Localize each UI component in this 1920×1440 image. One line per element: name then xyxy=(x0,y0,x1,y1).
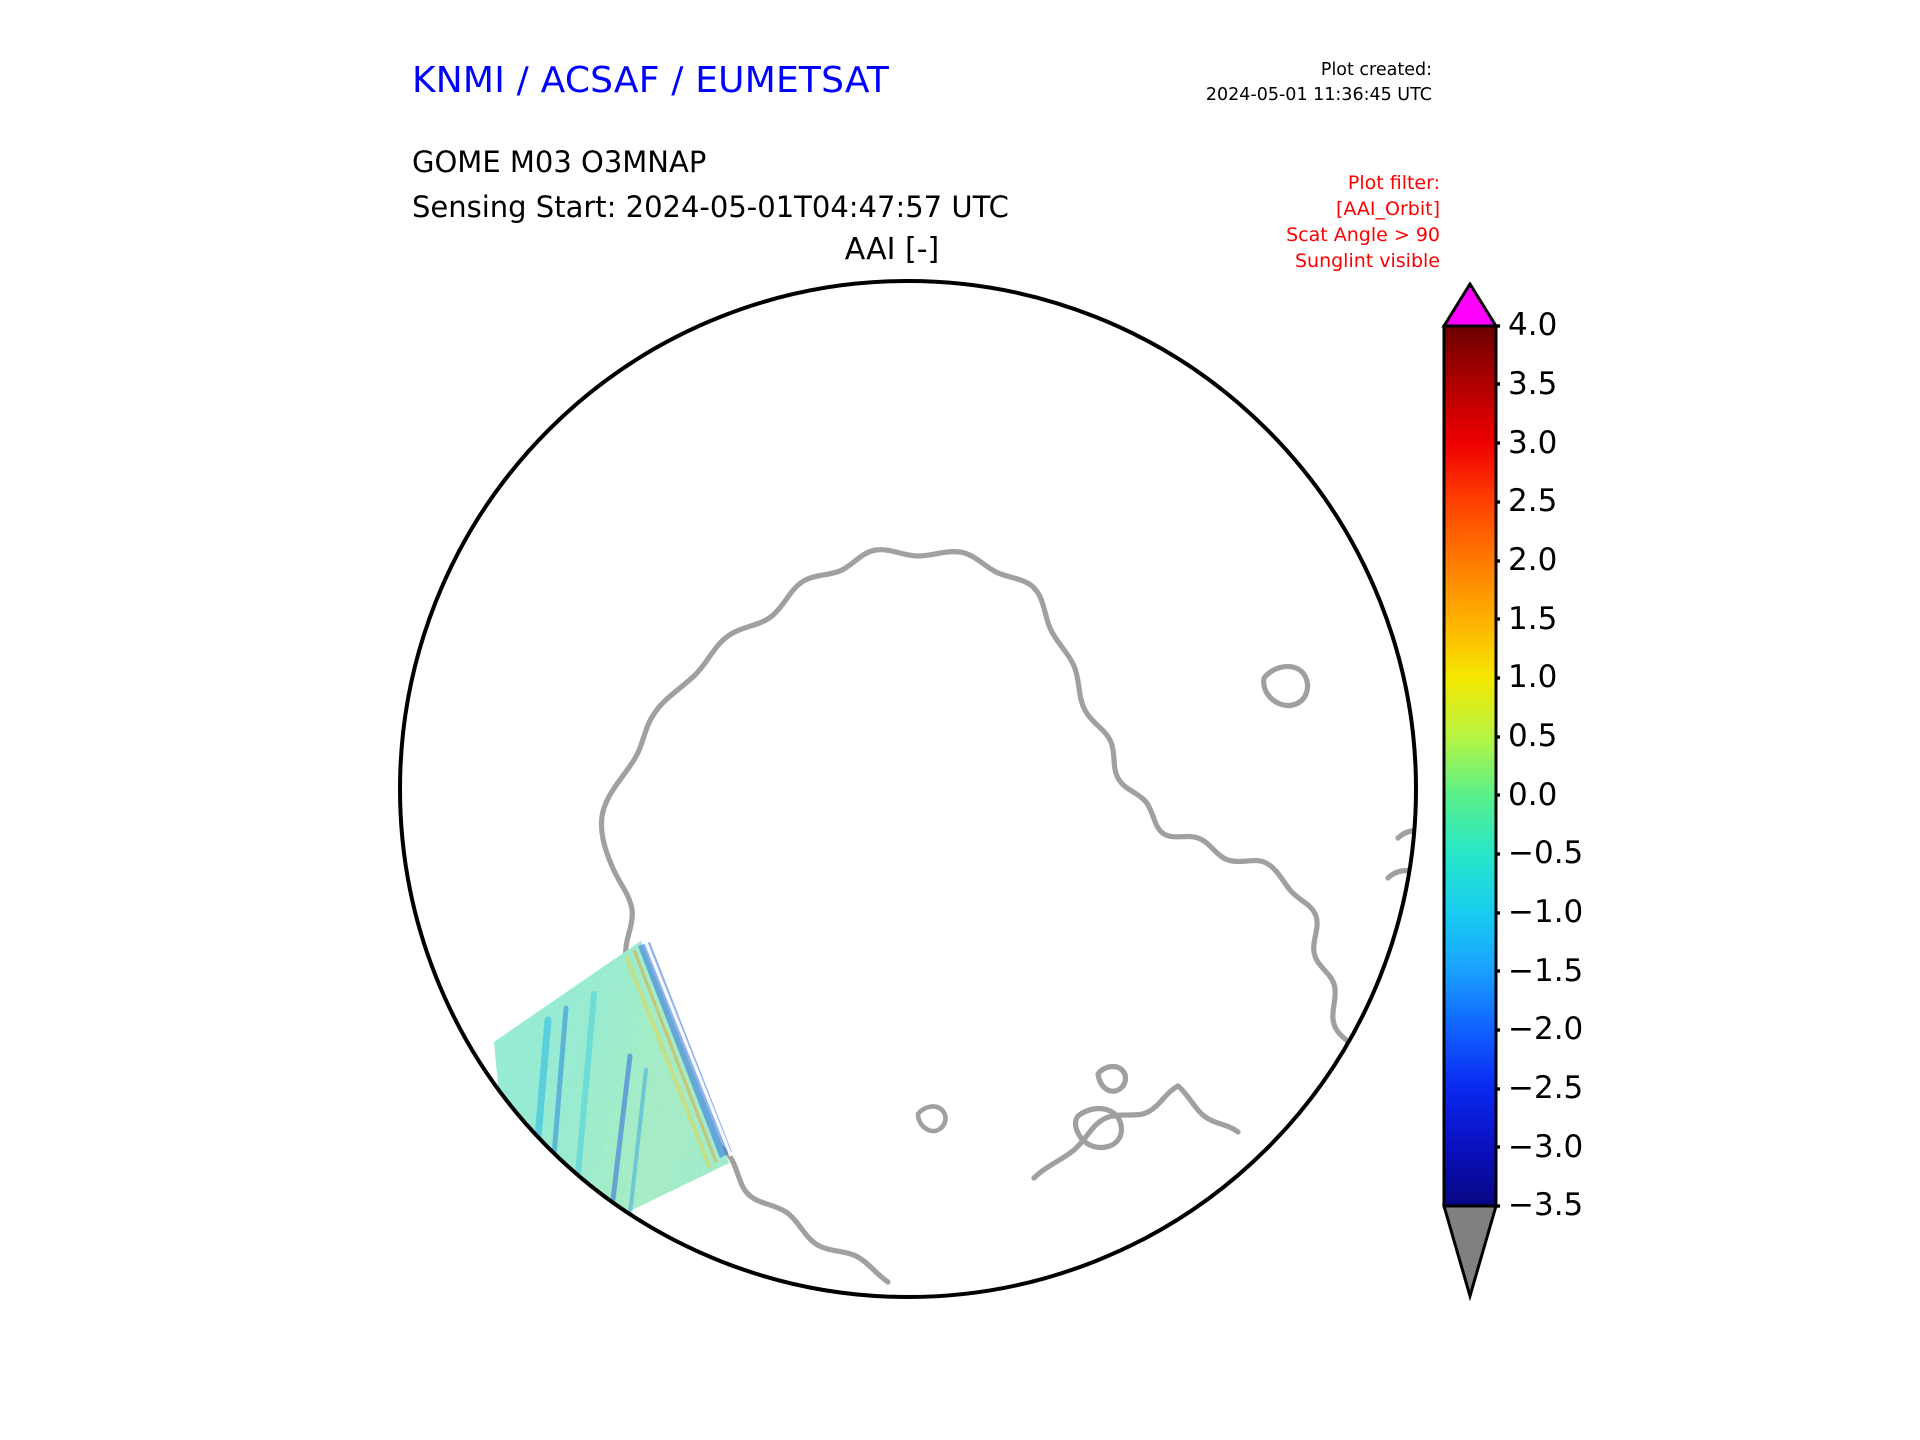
colorbar-tick-label: 3.0 xyxy=(1508,428,1557,459)
colorbar-tick-label: 0.0 xyxy=(1508,780,1557,811)
colorbar-tick-labels: 4.0 3.5 3.0 2.5 2.0 1.5 1.0 0.5 0.0 −0.5… xyxy=(1508,282,1638,1304)
colorbar-gradient xyxy=(1444,326,1496,1206)
sensing-start: Sensing Start: 2024-05-01T04:47:57 UTC xyxy=(412,185,1009,230)
colorbar-tick-label: −1.0 xyxy=(1508,897,1583,928)
plot-created-block: Plot created: 2024-05-01 11:36:45 UTC xyxy=(1060,58,1432,108)
colorbar-tick-label: 2.0 xyxy=(1508,545,1557,576)
colorbar-tick-label: −0.5 xyxy=(1508,838,1583,869)
plot-filter-title: Plot filter: xyxy=(1140,170,1440,196)
colorbar-over-arrow xyxy=(1444,284,1496,326)
variable-title: AAI [-] xyxy=(612,232,1172,267)
plot-filter-name: [AAI_Orbit] xyxy=(1140,196,1440,222)
polar-map xyxy=(398,278,1418,1300)
colorbar-tick-label: 4.0 xyxy=(1508,310,1557,341)
colorbar-tick-label: −3.0 xyxy=(1508,1132,1583,1163)
colorbar-tick-label: −3.5 xyxy=(1508,1190,1583,1221)
colorbar xyxy=(1440,282,1500,1304)
colorbar-tick-label: 1.0 xyxy=(1508,662,1557,693)
colorbar-under-arrow xyxy=(1444,1206,1496,1296)
colorbar-tick-label: −2.0 xyxy=(1508,1014,1583,1045)
dataset-info-block: GOME M03 O3MNAP Sensing Start: 2024-05-0… xyxy=(412,140,1009,230)
organisation-title: KNMI / ACSAF / EUMETSAT xyxy=(412,60,889,101)
colorbar-tick-label: 0.5 xyxy=(1508,721,1557,752)
colorbar-tick-label: −2.5 xyxy=(1508,1073,1583,1104)
colorbar-tick-label: 1.5 xyxy=(1508,604,1557,635)
plot-filter-note: Sunglint visible xyxy=(1140,248,1440,274)
plot-filter-block: Plot filter: [AAI_Orbit] Scat Angle > 90… xyxy=(1140,170,1440,274)
colorbar-tick-label: 3.5 xyxy=(1508,369,1557,400)
colorbar-tick-label: 2.5 xyxy=(1508,486,1557,517)
plot-created-timestamp: 2024-05-01 11:36:45 UTC xyxy=(1060,83,1432,108)
dataset-name: GOME M03 O3MNAP xyxy=(412,140,1009,185)
plot-created-label: Plot created: xyxy=(1060,58,1432,83)
colorbar-tick-label: −1.5 xyxy=(1508,956,1583,987)
plot-filter-condition: Scat Angle > 90 xyxy=(1140,222,1440,248)
